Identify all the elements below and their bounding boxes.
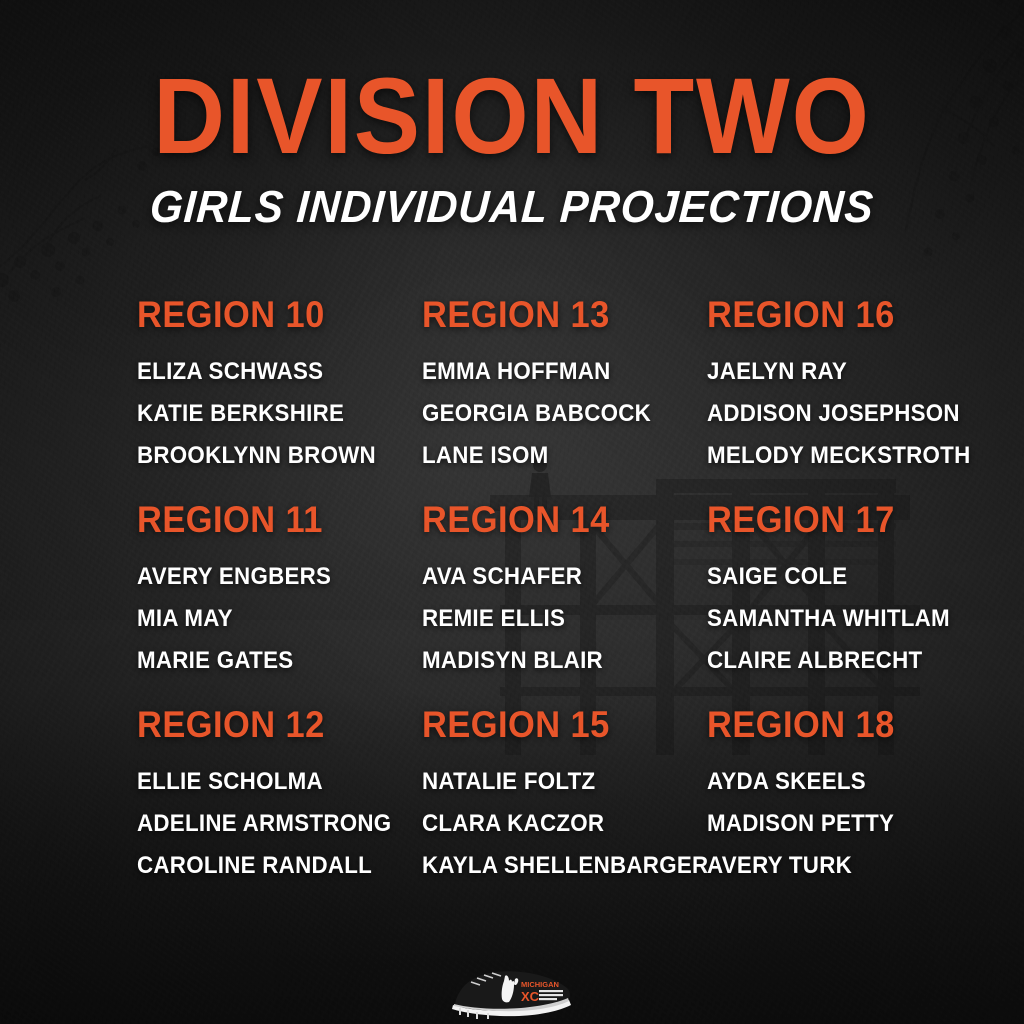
list-item: ADDISON JOSEPHSON	[707, 393, 912, 435]
list-item: MADISON PETTY	[707, 803, 912, 845]
list-item: ELLIE SCHOLMA	[137, 761, 402, 803]
poster-content: DIVISION TWO GIRLS INDIVIDUAL PROJECTION…	[0, 0, 1024, 1024]
running-shoe-icon: MICHIGAN XC	[447, 958, 577, 1020]
list-item: AVERY TURK	[707, 845, 912, 887]
region-block-18: REGION 18 AYDA SKEELS MADISON PETTY AVER…	[707, 706, 927, 911]
region-block-10: REGION 10 ELIZA SCHWASS KATIE BERKSHIRE …	[137, 296, 422, 501]
region-block-17: REGION 17 SAIGE COLE SAMANTHA WHITLAM CL…	[707, 501, 927, 706]
region-block-16: REGION 16 JAELYN RAY ADDISON JOSEPHSON M…	[707, 296, 927, 501]
list-item: GEORGIA BABCOCK	[422, 393, 687, 435]
athlete-list: NATALIE FOLTZ CLARA KACZOR KAYLA SHELLEN…	[422, 761, 707, 887]
region-title: REGION 13	[422, 296, 687, 333]
list-item: NATALIE FOLTZ	[422, 761, 687, 803]
list-item: LANE ISOM	[422, 435, 687, 477]
regions-grid: REGION 10 ELIZA SCHWASS KATIE BERKSHIRE …	[137, 296, 927, 911]
athlete-list: JAELYN RAY ADDISON JOSEPHSON MELODY MECK…	[707, 351, 927, 477]
list-item: BROOKLYNN BROWN	[137, 435, 402, 477]
page-subtitle: GIRLS INDIVIDUAL PROJECTIONS	[29, 184, 995, 229]
list-item: MARIE GATES	[137, 640, 402, 682]
region-title: REGION 18	[707, 706, 912, 743]
region-title: REGION 17	[707, 501, 912, 538]
list-item: AYDA SKEELS	[707, 761, 912, 803]
region-block-13: REGION 13 EMMA HOFFMAN GEORGIA BABCOCK L…	[422, 296, 707, 501]
athlete-list: AYDA SKEELS MADISON PETTY AVERY TURK	[707, 761, 927, 887]
athlete-list: EMMA HOFFMAN GEORGIA BABCOCK LANE ISOM	[422, 351, 707, 477]
list-item: CLARA KACZOR	[422, 803, 687, 845]
region-title: REGION 16	[707, 296, 912, 333]
logo-line2: XC	[521, 989, 540, 1004]
list-item: ELIZA SCHWASS	[137, 351, 402, 393]
athlete-list: ELLIE SCHOLMA ADELINE ARMSTRONG CAROLINE…	[137, 761, 422, 887]
region-block-11: REGION 11 AVERY ENGBERS MIA MAY MARIE GA…	[137, 501, 422, 706]
list-item: ADELINE ARMSTRONG	[137, 803, 402, 845]
list-item: MADISYN BLAIR	[422, 640, 687, 682]
list-item: SAIGE COLE	[707, 556, 912, 598]
region-title: REGION 14	[422, 501, 687, 538]
athlete-list: AVERY ENGBERS MIA MAY MARIE GATES	[137, 556, 422, 682]
region-block-12: REGION 12 ELLIE SCHOLMA ADELINE ARMSTRON…	[137, 706, 422, 911]
title-block: DIVISION TWO GIRLS INDIVIDUAL PROJECTION…	[0, 62, 1024, 229]
list-item: AVERY ENGBERS	[137, 556, 402, 598]
list-item: KAYLA SHELLENBARGER	[422, 845, 687, 887]
region-title: REGION 15	[422, 706, 687, 743]
athlete-list: AVA SCHAFER REMIE ELLIS MADISYN BLAIR	[422, 556, 707, 682]
list-item: AVA SCHAFER	[422, 556, 687, 598]
list-item: MIA MAY	[137, 598, 402, 640]
page-title: DIVISION TWO	[41, 62, 983, 170]
region-title: REGION 12	[137, 706, 402, 743]
list-item: MELODY MECKSTROTH	[707, 435, 912, 477]
athlete-list: SAIGE COLE SAMANTHA WHITLAM CLAIRE ALBRE…	[707, 556, 927, 682]
list-item: SAMANTHA WHITLAM	[707, 598, 912, 640]
region-title: REGION 10	[137, 296, 402, 333]
poster-canvas: DIVISION TWO GIRLS INDIVIDUAL PROJECTION…	[0, 0, 1024, 1024]
region-block-15: REGION 15 NATALIE FOLTZ CLARA KACZOR KAY…	[422, 706, 707, 911]
region-title: REGION 11	[137, 501, 402, 538]
list-item: KATIE BERKSHIRE	[137, 393, 402, 435]
list-item: EMMA HOFFMAN	[422, 351, 687, 393]
logo-line1: MICHIGAN	[521, 980, 559, 989]
region-block-14: REGION 14 AVA SCHAFER REMIE ELLIS MADISY…	[422, 501, 707, 706]
list-item: JAELYN RAY	[707, 351, 912, 393]
list-item: CLAIRE ALBRECHT	[707, 640, 912, 682]
list-item: REMIE ELLIS	[422, 598, 687, 640]
athlete-list: ELIZA SCHWASS KATIE BERKSHIRE BROOKLYNN …	[137, 351, 422, 477]
list-item: CAROLINE RANDALL	[137, 845, 402, 887]
